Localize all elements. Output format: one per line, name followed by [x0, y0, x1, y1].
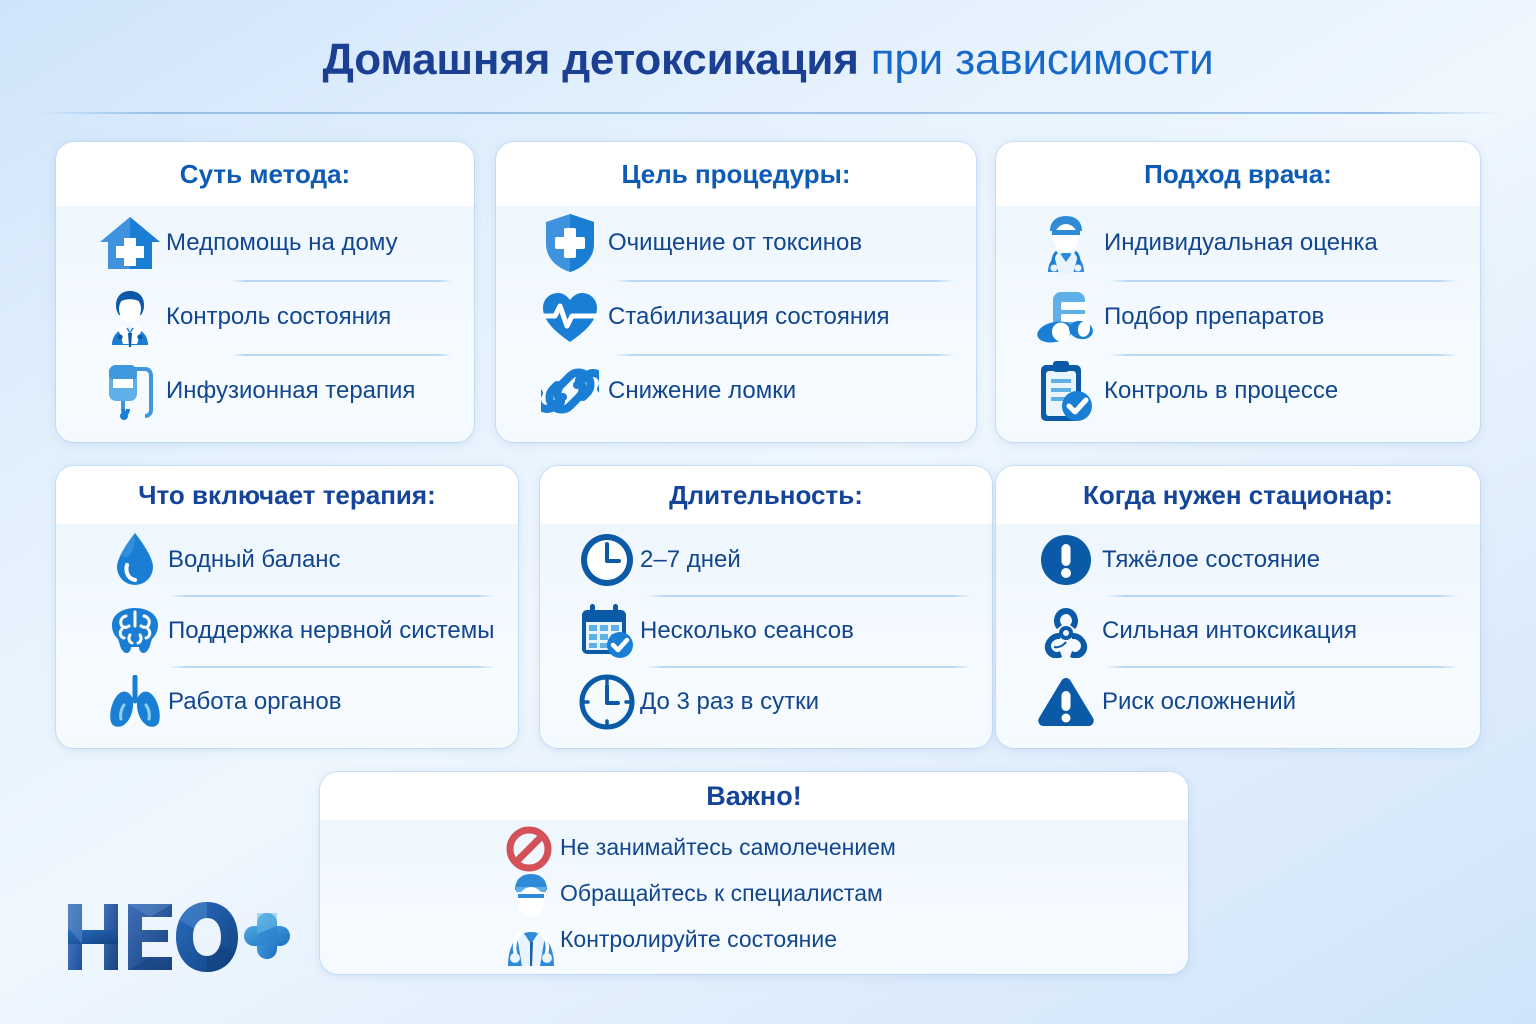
list-item-label: Поддержка нервной системы	[168, 617, 494, 645]
card-dlitelnost: Длительность: 2–7 дней	[540, 466, 992, 748]
list-item: Подбор препаратов	[996, 280, 1480, 354]
card-sut-metoda: Суть метода: Медпомощь на дому	[56, 142, 474, 442]
list-item: Стабилизация состояния	[496, 280, 976, 354]
list-item-label: Контроль в процессе	[1104, 377, 1338, 405]
list-item-label: Сильная интоксикация	[1102, 617, 1357, 645]
page-title-light: при зависимости	[871, 35, 1214, 84]
list-item: Не занимайтесь самолечением	[320, 824, 1188, 870]
card-kogda-nuzhen-stacionar: Когда нужен стационар: Тяжёлое состояние	[996, 466, 1480, 748]
card-header: Подход врача:	[996, 142, 1480, 206]
list-item: Очищение от токсинов	[496, 206, 976, 280]
list-item: 2–7 дней	[540, 524, 992, 595]
pills-icon	[1028, 290, 1104, 344]
list-item-label: Контролируйте состояние	[560, 926, 837, 953]
card-heading: Длительность:	[669, 480, 863, 511]
list-item-label: Индивидуальная оценка	[1104, 229, 1378, 257]
heart-pulse-icon	[532, 289, 608, 345]
no-entry-icon	[506, 826, 552, 872]
card-header: Важно!	[320, 772, 1188, 820]
list-item-label: Инфузионная терапия	[166, 377, 415, 405]
list-item-label: Не занимайтесь самолечением	[560, 834, 896, 861]
card-heading: Суть метода:	[180, 159, 350, 190]
card-header: Что включает терапия:	[56, 466, 518, 524]
list-item-label: Водный баланс	[168, 546, 341, 574]
list-item-label: Медпомощь на дому	[166, 229, 398, 257]
lungs-icon	[102, 675, 168, 729]
card-heading: Цель процедуры:	[621, 159, 850, 190]
card-header: Цель процедуры:	[496, 142, 976, 206]
list-item-label: Несколько сеансов	[640, 617, 854, 645]
shield-cross-icon	[532, 212, 608, 274]
biohazard-icon	[1030, 604, 1102, 658]
page-title-strong: Домашняя детоксикация	[323, 35, 859, 84]
house-cross-icon	[94, 214, 166, 272]
clipboard-check-icon	[1028, 359, 1104, 423]
list-item: Контролируйте состояние	[320, 916, 1188, 962]
list-item: Поддержка нервной системы	[56, 595, 518, 666]
list-item: Инфузионная терапия	[56, 354, 474, 428]
list-item-label: Снижение ломки	[608, 377, 796, 405]
page-title: Домашняя детоксикация при зависимости	[0, 34, 1536, 86]
card-header: Суть метода:	[56, 142, 474, 206]
list-item-label: Очищение от токсинов	[608, 229, 862, 257]
clock-ticks-icon	[574, 673, 640, 731]
chain-link-icon	[532, 363, 608, 419]
card-heading: Важно!	[706, 781, 801, 812]
list-item: Водный баланс	[56, 524, 518, 595]
list-item-label: Контроль состояния	[166, 303, 391, 331]
list-item-label: Стабилизация состояния	[608, 303, 889, 331]
list-item: Снижение ломки	[496, 354, 976, 428]
list-item: Индивидуальная оценка	[996, 206, 1480, 280]
brain-icon	[102, 605, 168, 657]
list-item: Медпомощь на дому	[56, 206, 474, 280]
doctor-stethoscope-icon	[1028, 212, 1104, 274]
card-heading: Что включает терапия:	[138, 480, 436, 511]
list-item: Обращайтесь к специалистам	[320, 870, 1188, 916]
list-item-label: Подбор препаратов	[1104, 303, 1324, 331]
list-item-label: 2–7 дней	[640, 546, 741, 574]
card-header: Когда нужен стационар:	[996, 466, 1480, 524]
list-item-label: Обращайтесь к специалистам	[560, 880, 883, 907]
card-podhod-vracha: Подход врача: Индивидуальная о	[996, 142, 1480, 442]
card-vazhno: Важно! Н	[320, 772, 1188, 974]
list-item: Работа органов	[56, 666, 518, 737]
iv-drip-icon	[94, 359, 166, 423]
doctor-figure-icon	[502, 870, 560, 966]
list-item: Контроль в процессе	[996, 354, 1480, 428]
exclamation-circle-icon	[1030, 533, 1102, 587]
list-item: Сильная интоксикация	[996, 595, 1480, 666]
card-heading: Подход врача:	[1144, 159, 1332, 190]
card-heading: Когда нужен стационар:	[1083, 480, 1393, 511]
calendar-check-icon	[574, 602, 640, 660]
doctor-person-icon	[94, 287, 166, 347]
brand-logo	[66, 898, 292, 978]
card-cel-procedury: Цель процедуры: Очищение от токсинов	[496, 142, 976, 442]
warning-triangle-icon	[1030, 676, 1102, 728]
list-item: Несколько сеансов	[540, 595, 992, 666]
list-item-label: До 3 раз в сутки	[640, 688, 819, 716]
list-item: До 3 раз в сутки	[540, 666, 992, 737]
title-divider	[36, 112, 1500, 114]
clock-icon	[574, 531, 640, 589]
card-chto-vklyuchaet-terapiya: Что включает терапия: Водный баланс	[56, 466, 518, 748]
list-item: Тяжёлое состояние	[996, 524, 1480, 595]
water-drop-icon	[102, 531, 168, 589]
list-item-label: Тяжёлое состояние	[1102, 546, 1320, 574]
list-item: Риск осложнений	[996, 666, 1480, 737]
list-item: Контроль состояния	[56, 280, 474, 354]
list-item-label: Риск осложнений	[1102, 688, 1296, 716]
card-header: Длительность:	[540, 466, 992, 524]
list-item-label: Работа органов	[168, 688, 341, 716]
